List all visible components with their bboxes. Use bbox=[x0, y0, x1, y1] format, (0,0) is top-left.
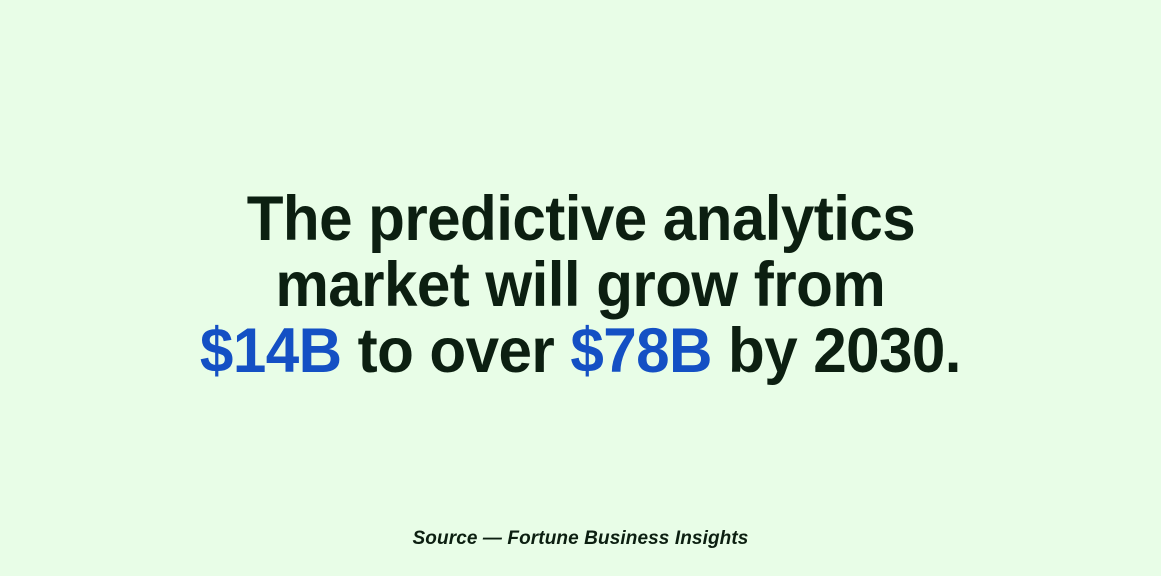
headline-line-2-text: market will grow from bbox=[276, 252, 886, 318]
source-text: Source — Fortune Business Insights bbox=[413, 528, 749, 549]
headline-connector: to over bbox=[342, 316, 571, 386]
source-attribution: Source — Fortune Business Insights bbox=[0, 527, 1161, 551]
headline-line-1-text: The predictive analytics bbox=[246, 186, 914, 252]
headline-line-1: The predictive analytics bbox=[0, 186, 1161, 252]
stat-slide: The predictive analyticsmarket will grow… bbox=[0, 0, 1161, 576]
headline: The predictive analyticsmarket will grow… bbox=[0, 186, 1161, 384]
headline-line-3: $14B to over $78B by 2030. bbox=[0, 318, 1161, 384]
stat-value-from: $14B bbox=[200, 316, 342, 386]
headline-line-2: market will grow from bbox=[0, 252, 1161, 318]
headline-tail: by 2030. bbox=[712, 316, 961, 386]
stat-value-to: $78B bbox=[570, 316, 712, 386]
